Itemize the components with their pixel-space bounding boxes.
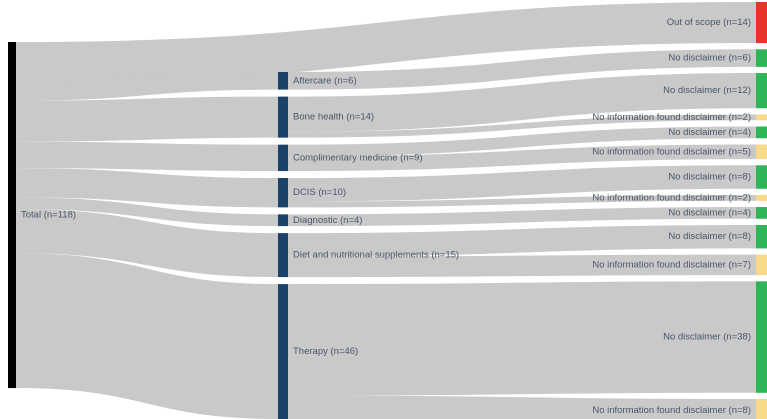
sankey-node-diet[interactable] [278, 233, 288, 277]
sankey-node-aftercare[interactable] [278, 72, 288, 90]
sankey-node-bone[interactable] [278, 97, 288, 138]
sankey-node-label-nd12: No disclaimer (n=12) [663, 85, 751, 96]
sankey-node-label-nd38: No disclaimer (n=38) [663, 332, 751, 343]
sankey-node-label-oos: Out of scope (n=14) [667, 17, 751, 28]
sankey-node-label-nif2b: No information found disclaimer (n=2) [592, 192, 751, 203]
sankey-diagram: Total (n=118)Aftercare (n=6)Bone health … [0, 0, 767, 419]
sankey-node-nif8[interactable] [756, 399, 767, 419]
sankey-node-nd8b[interactable] [756, 225, 767, 248]
sankey-node-nd38[interactable] [756, 281, 767, 392]
sankey-node-oos[interactable] [756, 2, 767, 43]
sankey-node-label-nif2a: No information found disclaimer (n=2) [592, 112, 751, 123]
sankey-node-label-therapy: Therapy (n=46) [293, 346, 358, 357]
sankey-node-compl[interactable] [278, 145, 288, 171]
sankey-link [16, 253, 278, 419]
sankey-node-label-nif5: No information found disclaimer (n=5) [592, 146, 751, 157]
sankey-node-label-nd6: No disclaimer (n=6) [668, 53, 751, 64]
sankey-link [16, 142, 278, 171]
sankey-node-label-diag: Diagnostic (n=4) [293, 215, 362, 226]
link-layer [16, 2, 756, 419]
sankey-node-label-dcis: DCIS (n=10) [293, 187, 346, 198]
sankey-node-nif5[interactable] [756, 144, 767, 159]
sankey-node-diag[interactable] [278, 214, 288, 226]
sankey-node-label-nif7: No information found disclaimer (n=7) [592, 259, 751, 270]
sankey-node-nif2a[interactable] [756, 114, 767, 120]
sankey-node-label-total: Total (n=118) [21, 210, 76, 221]
sankey-node-therapy[interactable] [278, 284, 288, 419]
sankey-node-dcis[interactable] [278, 178, 288, 207]
sankey-node-label-compl: Complimentary medicine (n=9) [293, 152, 423, 163]
sankey-node-nd6[interactable] [756, 49, 767, 67]
sankey-node-label-nd8a: No disclaimer (n=8) [668, 172, 751, 183]
sankey-node-label-nd8b: No disclaimer (n=8) [668, 231, 751, 242]
sankey-node-label-diet: Diet and nutritional supplements (n=15) [293, 250, 459, 261]
sankey-node-label-aftercare: Aftercare (n=6) [293, 75, 357, 86]
sankey-node-label-bone: Bone health (n=14) [293, 112, 374, 123]
sankey-node-nif7[interactable] [756, 255, 767, 276]
sankey-node-nd4a[interactable] [756, 127, 767, 139]
sankey-node-nd4b[interactable] [756, 207, 767, 219]
sankey-node-label-nd4a: No disclaimer (n=4) [668, 127, 751, 138]
sankey-node-label-nd4b: No disclaimer (n=4) [668, 207, 751, 218]
sankey-link [16, 97, 278, 142]
sankey-node-nif2b[interactable] [756, 195, 767, 201]
sankey-canvas: Total (n=118)Aftercare (n=6)Bone health … [0, 0, 767, 419]
sankey-node-nd12[interactable] [756, 73, 767, 108]
sankey-node-total[interactable] [8, 42, 16, 388]
sankey-node-label-nif8: No information found disclaimer (n=8) [592, 405, 751, 416]
sankey-node-nd8a[interactable] [756, 165, 767, 188]
